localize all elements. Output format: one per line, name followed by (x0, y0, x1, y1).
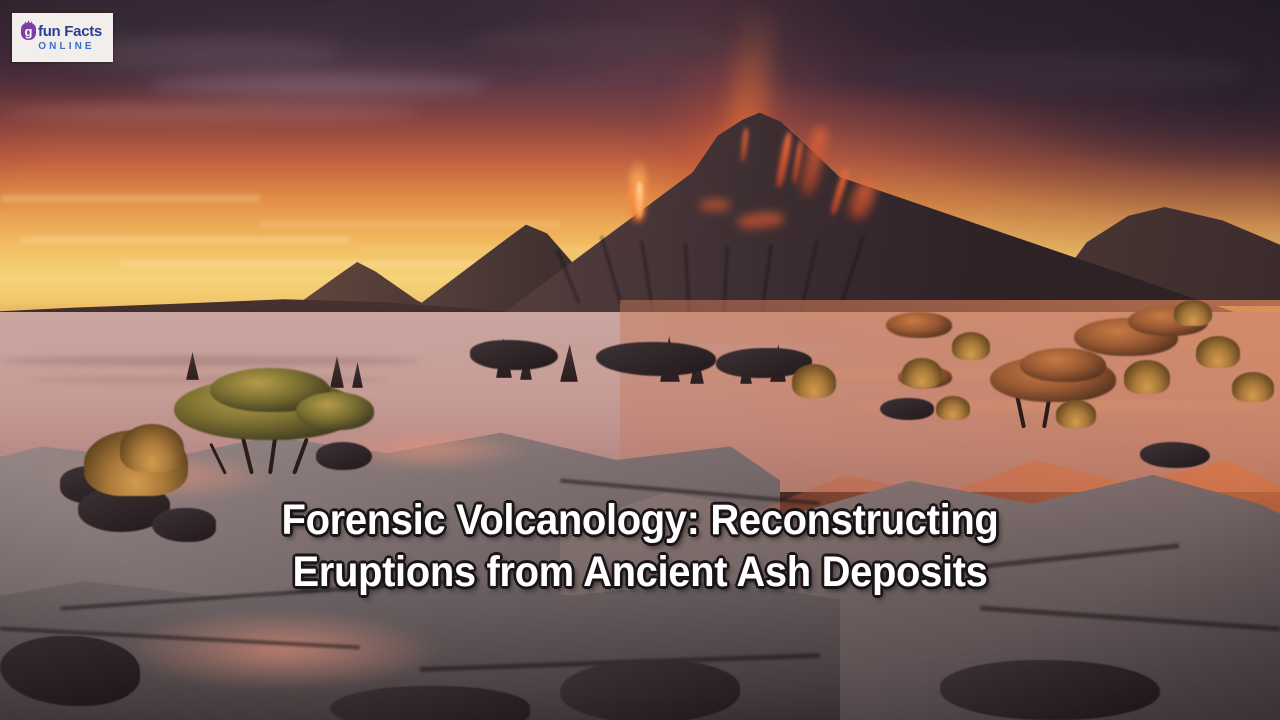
logo-wordmark-row: g fun Facts (21, 23, 102, 40)
grass-tuft (952, 332, 990, 360)
cloud-wisp (0, 196, 260, 201)
cloud-wisp (20, 238, 350, 242)
grass-tuft (1232, 372, 1274, 402)
grass-tuft (936, 396, 970, 420)
hero-banner: Forensic Volcanology: Reconstructing Eru… (0, 0, 1280, 720)
site-logo[interactable]: g fun Facts ONLINE (12, 13, 113, 62)
grass-tuft (1056, 400, 1096, 428)
lava-vent-glow (700, 200, 730, 211)
grass-tuft (902, 358, 942, 388)
dark-boulder (330, 686, 530, 720)
logo-g-icon: g (21, 23, 36, 40)
page-title: Forensic Volcanology: Reconstructing Eru… (0, 494, 1280, 598)
dark-boulder (1140, 442, 1210, 468)
dark-boulder (940, 660, 1160, 720)
grass-tuft (1124, 360, 1170, 394)
dark-boulder (316, 442, 372, 470)
desert-shrub (296, 392, 374, 430)
grass-tuft (792, 364, 836, 398)
cloud-wisp (260, 222, 560, 226)
dark-boulder (560, 660, 740, 720)
title-line-1: Forensic Volcanology: Reconstructing (45, 494, 1235, 546)
grass-tuft (1196, 336, 1240, 368)
logo-wordmark: fun Facts (38, 24, 102, 39)
desert-shrub (1020, 348, 1106, 382)
desert-shrub (886, 312, 952, 338)
dark-boulder (880, 398, 934, 420)
logo-subtitle: ONLINE (38, 41, 94, 52)
title-line-2: Eruptions from Ancient Ash Deposits (45, 546, 1235, 598)
grass-tuft (120, 424, 184, 472)
lava-fountain-core (636, 182, 643, 218)
grass-tuft (1174, 300, 1212, 326)
dark-boulder (470, 340, 558, 370)
sunset-highlight (120, 610, 440, 690)
